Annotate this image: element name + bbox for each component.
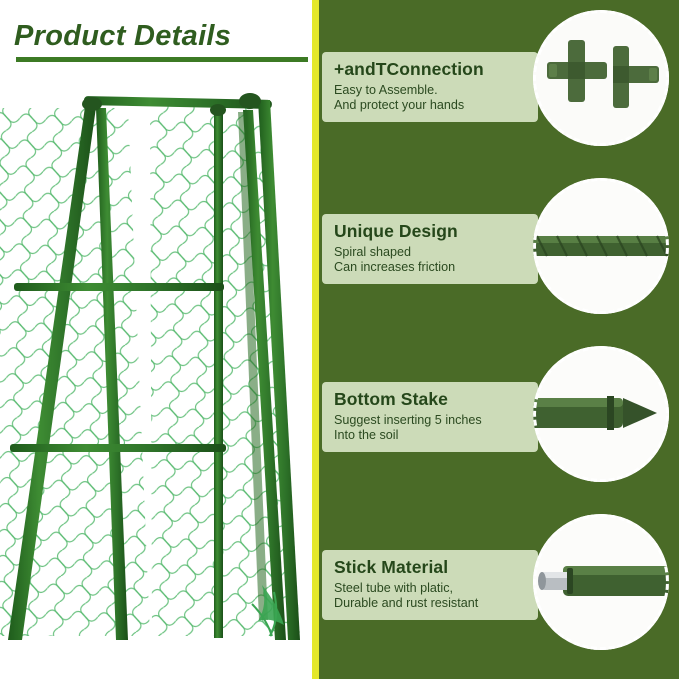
feature-card-and-t-connection: +andTConnection Easy to Assemble. And pr… (322, 52, 538, 122)
product-details-infographic: Product Details +andTConnection Easy to … (0, 0, 679, 679)
spiral-tube-photo (533, 178, 669, 314)
pointed-stake-icon (533, 346, 669, 482)
connector-fittings-icon (533, 10, 669, 146)
feature-title: Unique Design (334, 221, 528, 242)
connector-fittings-photo (533, 10, 669, 146)
feature-card-stick-material: Stick Material Steel tube with platic, D… (322, 550, 538, 620)
steel-tube-cutaway-photo (533, 514, 669, 650)
trellis-photo (0, 0, 318, 679)
yellow-divider (312, 0, 319, 679)
pointed-stake-photo (533, 346, 669, 482)
page-title: Product Details (14, 20, 231, 53)
title-underline (16, 57, 308, 62)
feature-description: Steel tube with platic, Durable and rust… (334, 581, 528, 611)
feature-title: +andTConnection (334, 59, 528, 80)
feature-card-unique-design: Unique Design Spiral shaped Can increase… (322, 214, 538, 284)
feature-title: Bottom Stake (334, 389, 528, 410)
feature-description: Easy to Assemble. And protect your hands (334, 83, 528, 113)
feature-description: Spiral shaped Can increases friction (334, 245, 528, 275)
trellis-illustration (0, 0, 318, 679)
steel-tube-cutaway-icon (533, 514, 669, 650)
feature-card-bottom-stake: Bottom Stake Suggest inserting 5 inches … (322, 382, 538, 452)
spiral-tube-icon (533, 178, 669, 314)
feature-title: Stick Material (334, 557, 528, 578)
feature-description: Suggest inserting 5 inches Into the soil (334, 413, 528, 443)
